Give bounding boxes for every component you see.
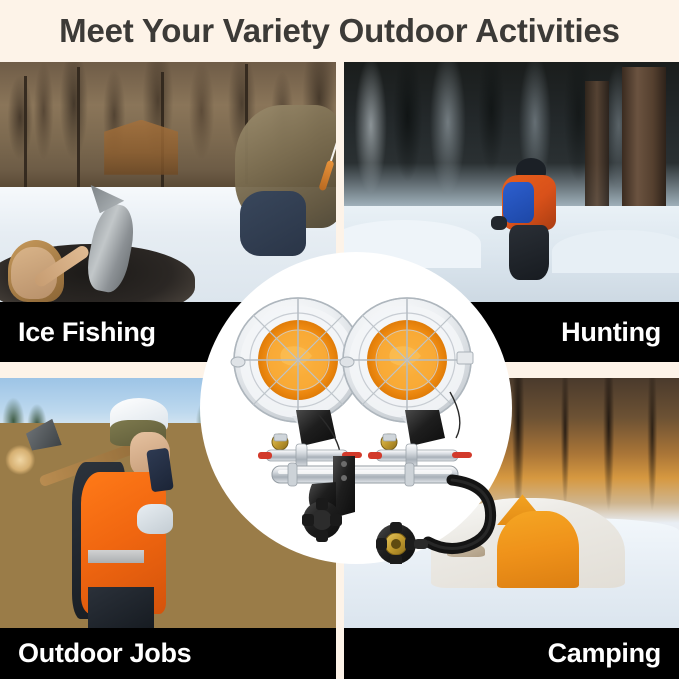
blue-backpack (503, 182, 534, 223)
manifold-bar (272, 463, 458, 486)
page-title-bar: Meet Your Variety Outdoor Activities (0, 0, 679, 62)
work-pants (88, 587, 153, 628)
work-glove (137, 504, 173, 534)
hose-highlight (428, 480, 491, 549)
ice-swimmer-figure (7, 237, 81, 302)
ice-angler-figure (235, 105, 336, 259)
glove (491, 216, 507, 230)
caption-outdoor-jobs: Outdoor Jobs (18, 638, 191, 669)
caption-camping: Camping (548, 638, 661, 669)
promo-infographic: Meet Your Variety Outdoor Activities (0, 0, 679, 679)
tank-regulator-connector (376, 522, 428, 564)
worker-figure (74, 398, 195, 628)
reflective-stripe (88, 550, 144, 563)
dark-pants (509, 225, 549, 280)
caption-ice-fishing: Ice Fishing (18, 317, 156, 348)
caption-band-outdoor-jobs: Outdoor Jobs (0, 628, 336, 679)
caption-band-camping: Camping (344, 628, 679, 679)
ice-tree-trunk (24, 76, 27, 186)
jeans (240, 191, 307, 256)
page-title: Meet Your Variety Outdoor Activities (59, 12, 620, 50)
ice-tree-trunk (77, 67, 80, 192)
propane-heater-illustration (200, 252, 512, 564)
snow-mound (552, 230, 679, 273)
caption-hunting: Hunting (561, 317, 661, 348)
mobile-phone (146, 447, 174, 492)
product-spotlight-circle (200, 252, 512, 564)
